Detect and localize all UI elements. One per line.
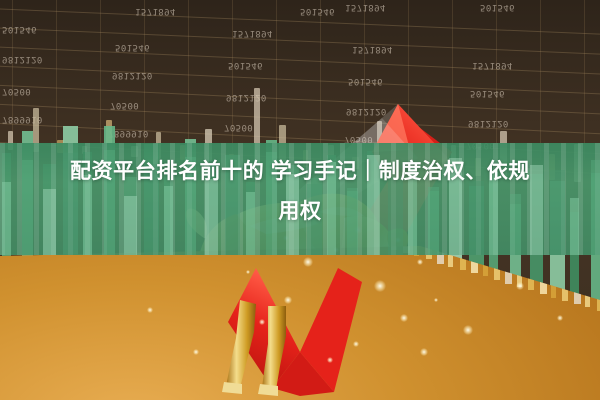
sparkle (463, 325, 473, 335)
sparkle (327, 357, 333, 363)
page-title-line-2: 用权 (0, 192, 600, 232)
sparkle (284, 296, 292, 304)
sparkle (400, 314, 408, 322)
sparkle (353, 341, 359, 347)
banner-image: 1571894501546501546157189450154698121205… (0, 0, 600, 400)
sparkle (147, 307, 153, 313)
sparkle (259, 319, 265, 325)
sparkle (420, 348, 428, 356)
sparkle (516, 282, 524, 290)
sparkle (374, 280, 386, 292)
page-title: 配资平台排名前十的 学习手记｜制度治权、依规 用权 (0, 152, 600, 232)
page-title-line-1: 配资平台排名前十的 学习手记｜制度治权、依规 (0, 152, 600, 192)
sparkle (417, 259, 423, 265)
sparkle (557, 315, 563, 321)
sparkle (193, 349, 199, 355)
sparkle (434, 298, 438, 302)
sparkle (303, 257, 313, 267)
sparkle (246, 270, 250, 274)
